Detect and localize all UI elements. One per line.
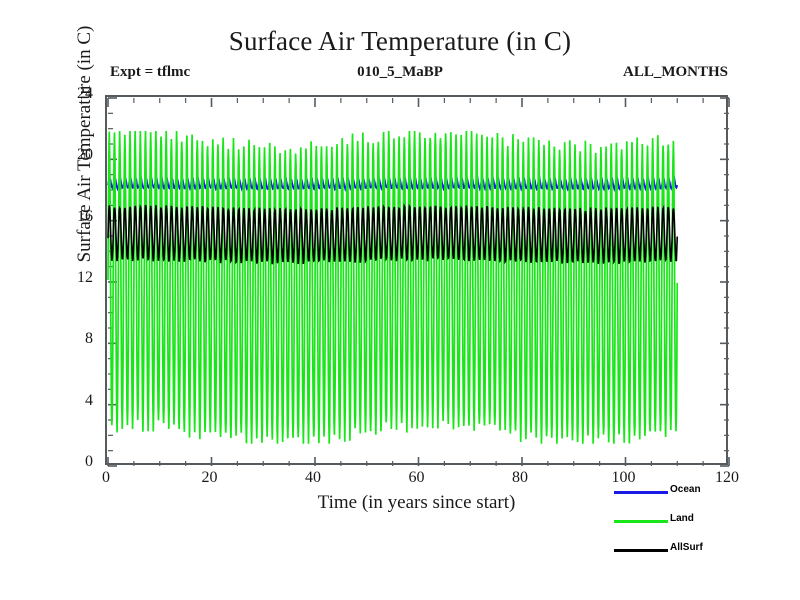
y-tick-label: 12	[53, 269, 93, 287]
y-axis-label: Surface Air Temperature (in C)	[74, 0, 96, 289]
x-tick-label: 80	[490, 469, 550, 487]
plot-canvas	[107, 97, 730, 467]
legend-item[interactable]: Land	[614, 513, 789, 542]
y-tick-label: 24	[53, 85, 93, 103]
legend-swatch-allsurf	[614, 549, 668, 552]
y-tick-label: 8	[53, 330, 93, 348]
y-tick-label: 16	[53, 208, 93, 226]
x-tick-label: 40	[283, 469, 343, 487]
y-tick-label: 20	[53, 146, 93, 164]
legend-label: Land	[670, 513, 694, 524]
chart-page: Surface Air Temperature (in C) Expt = tf…	[0, 0, 800, 600]
series-lines	[108, 131, 677, 444]
months-label: ALL_MONTHS	[623, 64, 728, 81]
legend-item[interactable]: AllSurf	[614, 542, 789, 571]
x-tick-label: 0	[76, 469, 136, 487]
x-tick-label: 60	[387, 469, 447, 487]
x-tick-label: 20	[180, 469, 240, 487]
page-title: Surface Air Temperature (in C)	[0, 26, 800, 57]
legend-swatch-land	[614, 520, 668, 523]
plot-area	[105, 95, 728, 465]
legend-label: Ocean	[670, 484, 701, 495]
legend: OceanLandAllSurf	[614, 484, 789, 571]
legend-label: AllSurf	[670, 542, 703, 553]
y-tick-label: 4	[53, 392, 93, 410]
legend-swatch-ocean	[614, 491, 668, 494]
series-line-land	[108, 131, 677, 444]
legend-item[interactable]: Ocean	[614, 484, 789, 513]
